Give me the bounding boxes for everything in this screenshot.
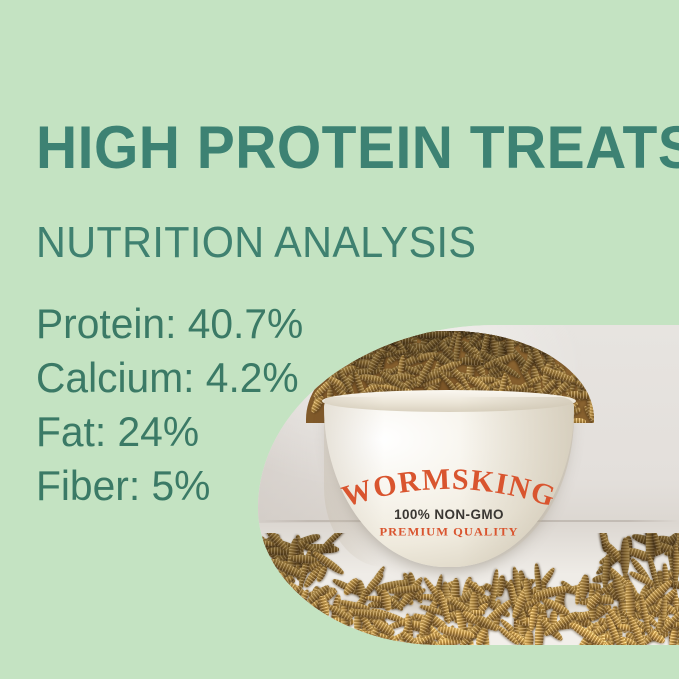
page-subtitle: NUTRITION ANALYSIS — [36, 221, 476, 265]
brand-name-text: WORMSKING — [338, 463, 560, 514]
larvae-pile-front — [258, 533, 679, 645]
larva — [524, 630, 534, 645]
larva — [298, 596, 305, 617]
larva — [411, 331, 447, 337]
brand-name-arc: WORMSKING — [324, 469, 574, 509]
larva — [673, 545, 679, 585]
larva — [620, 538, 629, 576]
product-photo: WORMSKING 100% NON-GMO PREMIUM QUALITY — [258, 325, 679, 645]
nutrition-fiber: Fiber: 5% — [36, 462, 210, 509]
product-info-poster: HIGH PROTEIN TREATS NUTRITION ANALYSIS P… — [0, 0, 679, 679]
brand-label: WORMSKING 100% NON-GMO PREMIUM QUALITY — [324, 469, 574, 540]
nutrition-fat: Fat: 24% — [36, 408, 199, 455]
page-title: HIGH PROTEIN TREATS — [36, 118, 679, 178]
bowl-rim — [322, 390, 576, 412]
svg-text:WORMSKING: WORMSKING — [338, 463, 560, 514]
